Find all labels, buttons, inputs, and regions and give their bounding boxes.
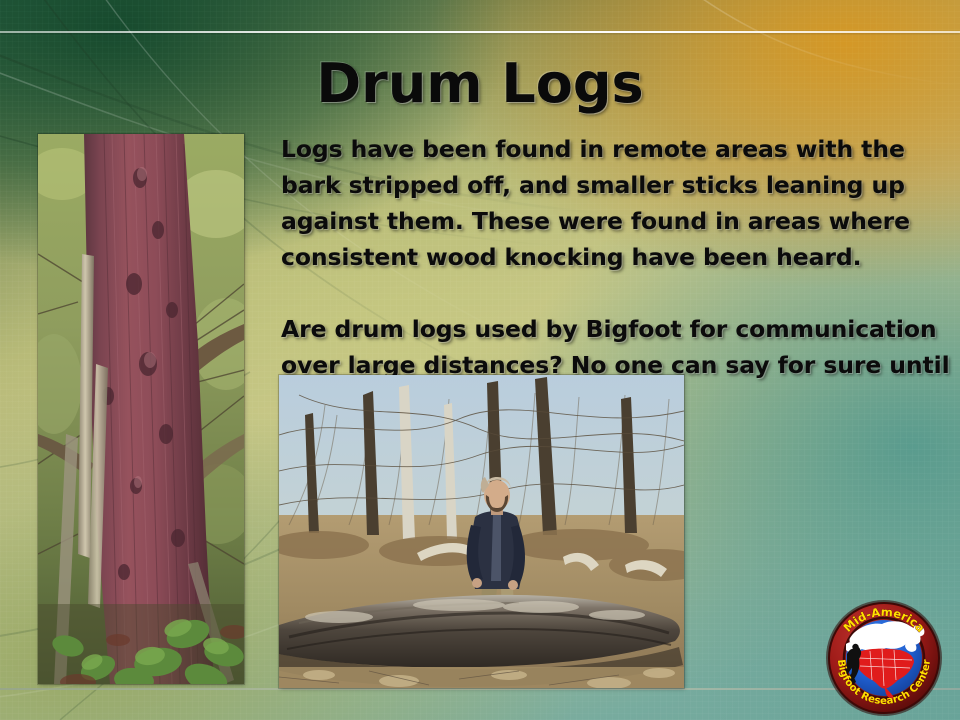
slide-drum-logs: Drum Logs Logs have been found in remote… — [0, 0, 960, 720]
page-title: Drum Logs — [0, 52, 960, 115]
tree-photo-artwork — [38, 134, 244, 684]
logo-artwork: Mid-America Bigfoot Research Center — [822, 596, 946, 718]
debarked-tree-trunk-photo — [38, 134, 244, 684]
paragraph-spacer — [281, 275, 953, 311]
mid-america-bigfoot-research-center-logo: Mid-America Bigfoot Research Center — [822, 596, 946, 718]
man-kneeling-on-drum-log-photo — [279, 375, 684, 688]
log-photo-artwork — [279, 375, 684, 688]
top-divider-rule — [0, 31, 960, 33]
body-paragraph-1: Logs have been found in remote areas wit… — [281, 131, 953, 275]
bottom-divider-rule — [0, 688, 960, 690]
